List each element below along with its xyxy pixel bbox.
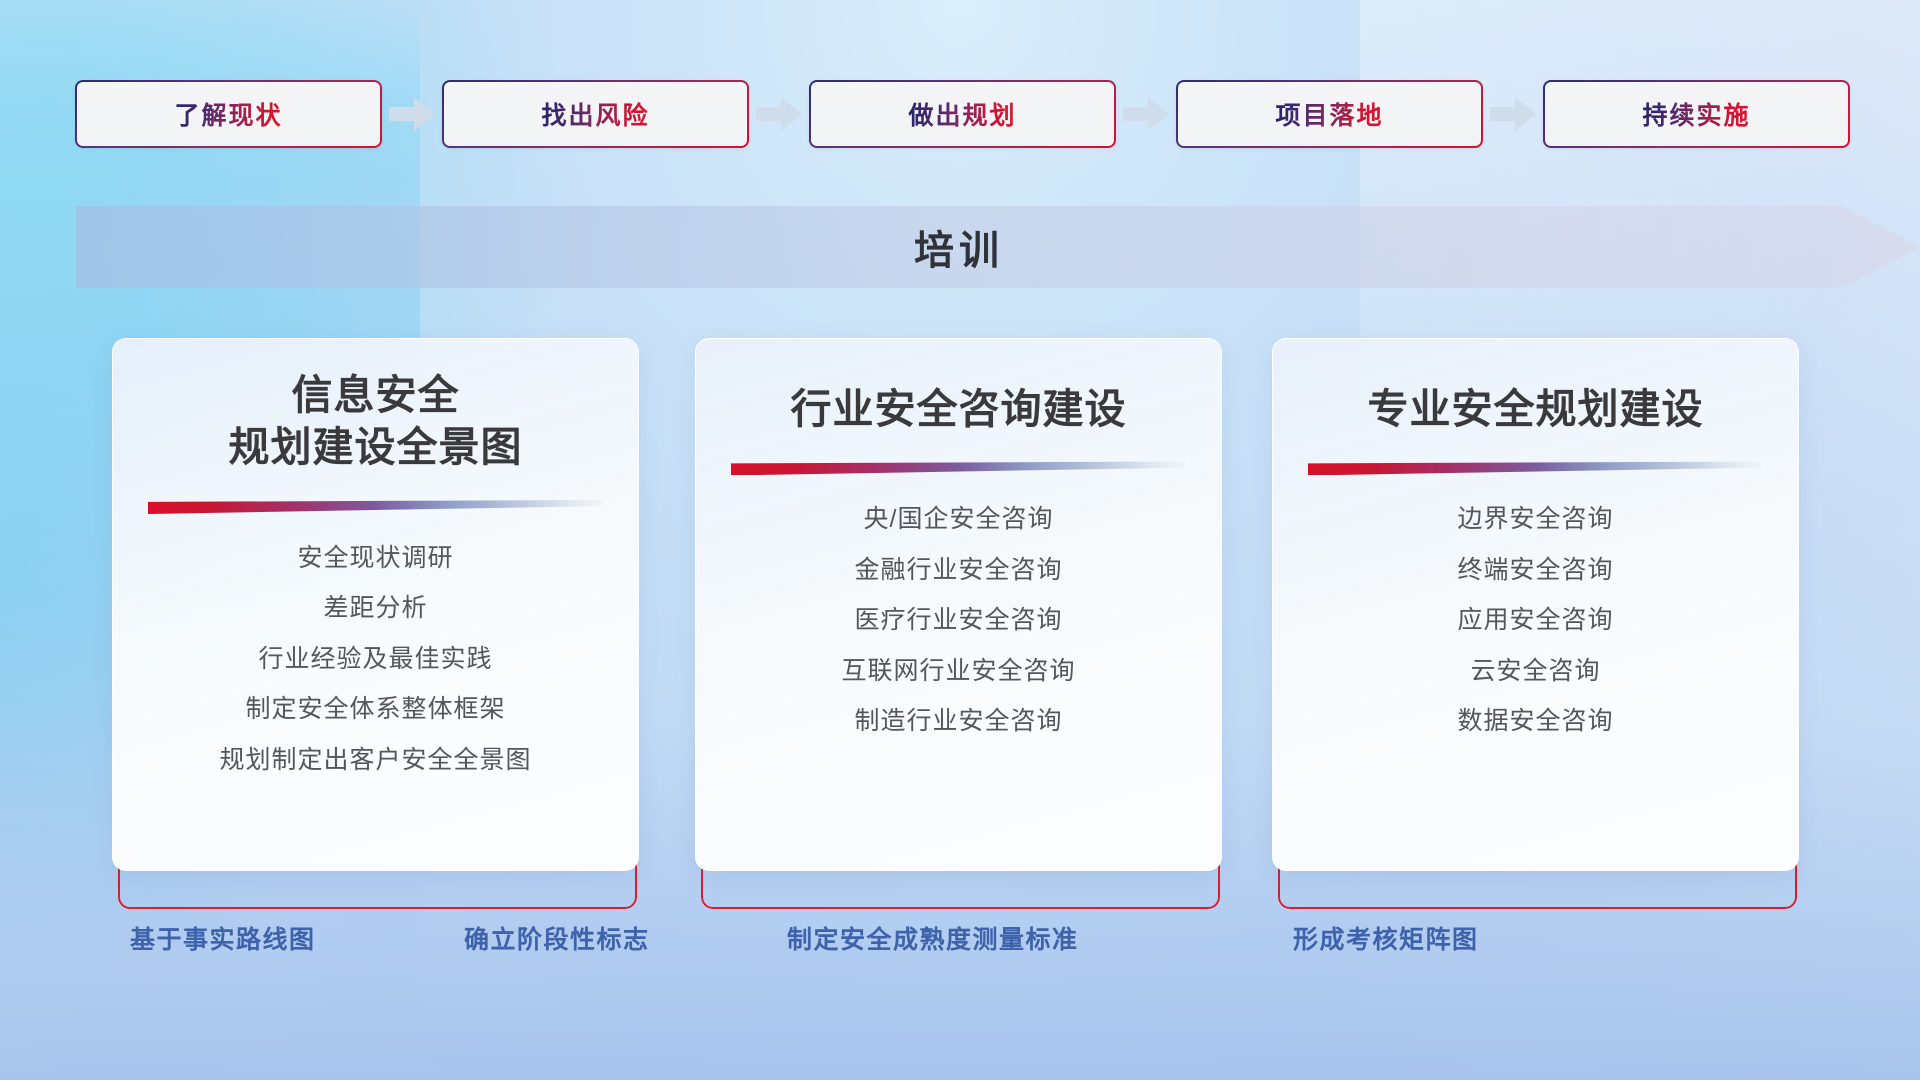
- card-title: 专业安全规划建设: [1350, 383, 1722, 435]
- list-item: 互联网行业安全咨询: [841, 653, 1075, 691]
- step-label: 持续实施: [1642, 96, 1750, 132]
- card-3[interactable]: 专业安全规划建设 边界安全咨询 终端安全咨询 应用安全咨询 云安全咨询 数据安全…: [1272, 338, 1799, 871]
- bottom-label-4: 形成考核矩阵图: [1293, 920, 1479, 956]
- card-title: 信息安全 规划建设全景图: [211, 369, 541, 474]
- card-list: 央/国企安全咨询 金融行业安全咨询 医疗行业安全咨询 互联网行业安全咨询 制造行…: [696, 501, 1221, 741]
- step-box-1[interactable]: 了解现状: [75, 80, 382, 148]
- process-steps: 了解现状 找出风险 做出规划 项目落地: [75, 78, 1847, 150]
- step-box-3[interactable]: 做出规划: [809, 80, 1116, 148]
- list-item: 边界安全咨询: [1457, 501, 1613, 539]
- arrow-right-icon: [1483, 78, 1543, 150]
- banner-title: 培训: [76, 206, 1842, 288]
- card-row: 信息安全 规划建设全景图 安全现状调研 差距分析 行业经验及最佳实践 制定安全体…: [0, 328, 1920, 868]
- card-divider: [731, 461, 1186, 475]
- card-divider-bar: [148, 500, 603, 514]
- card-divider-bar: [1308, 461, 1763, 475]
- list-item: 云安全咨询: [1470, 653, 1600, 691]
- step-box-2[interactable]: 找出风险: [442, 80, 749, 148]
- bottom-label-1: 基于事实路线图: [130, 920, 316, 956]
- card-divider: [148, 500, 603, 514]
- list-item: 金融行业安全咨询: [854, 552, 1062, 590]
- list-item: 行业经验及最佳实践: [258, 641, 492, 679]
- card-2[interactable]: 行业安全咨询建设 央/国企安全咨询 金融行业安全咨询 医疗行业安全咨询 互联网行…: [695, 338, 1222, 871]
- card-divider: [1308, 461, 1763, 475]
- arrow-right-icon: [749, 78, 809, 150]
- list-item: 数据安全咨询: [1457, 703, 1613, 741]
- card-title-line: 规划建设全景图: [229, 421, 523, 473]
- step-label: 了解现状: [174, 96, 282, 132]
- card-title-line: 专业安全规划建设: [1368, 383, 1704, 435]
- step-box-4[interactable]: 项目落地: [1176, 80, 1483, 148]
- list-item: 差距分析: [323, 590, 427, 628]
- step-box-5[interactable]: 持续实施: [1543, 80, 1850, 148]
- arrow-right-icon: [382, 78, 442, 150]
- list-item: 制定安全体系整体框架: [245, 691, 505, 729]
- list-item: 规划制定出客户安全全景图: [219, 742, 531, 780]
- list-item: 制造行业安全咨询: [854, 703, 1062, 741]
- list-item: 安全现状调研: [297, 540, 453, 578]
- card-title-line: 信息安全: [229, 369, 523, 421]
- card-list: 安全现状调研 差距分析 行业经验及最佳实践 制定安全体系整体框架 规划制定出客户…: [113, 540, 638, 780]
- training-banner: 培训: [76, 206, 1920, 288]
- arrow-right-icon: [1116, 78, 1176, 150]
- step-label: 项目落地: [1275, 96, 1383, 132]
- card-list: 边界安全咨询 终端安全咨询 应用安全咨询 云安全咨询 数据安全咨询: [1273, 501, 1798, 741]
- step-label: 做出规划: [908, 96, 1016, 132]
- step-label: 找出风险: [541, 96, 649, 132]
- card-title: 行业安全咨询建设: [773, 383, 1145, 435]
- list-item: 央/国企安全咨询: [864, 501, 1054, 539]
- card-panel: 专业安全规划建设 边界安全咨询 终端安全咨询 应用安全咨询 云安全咨询 数据安全…: [1272, 338, 1799, 871]
- bottom-label-3: 制定安全成熟度测量标准: [787, 920, 1079, 956]
- bottom-label-2: 确立阶段性标志: [464, 920, 650, 956]
- card-divider-bar: [731, 461, 1186, 475]
- list-item: 医疗行业安全咨询: [854, 602, 1062, 640]
- list-item: 终端安全咨询: [1457, 552, 1613, 590]
- slide-canvas: 了解现状 找出风险 做出规划 项目落地: [0, 0, 1920, 1080]
- card-panel: 行业安全咨询建设 央/国企安全咨询 金融行业安全咨询 医疗行业安全咨询 互联网行…: [695, 338, 1222, 871]
- card-1[interactable]: 信息安全 规划建设全景图 安全现状调研 差距分析 行业经验及最佳实践 制定安全体…: [112, 338, 639, 871]
- bottom-label-row: 基于事实路线图 确立阶段性标志 制定安全成熟度测量标准 形成考核矩阵图: [0, 920, 1920, 970]
- list-item: 应用安全咨询: [1457, 602, 1613, 640]
- card-panel: 信息安全 规划建设全景图 安全现状调研 差距分析 行业经验及最佳实践 制定安全体…: [112, 338, 639, 871]
- card-title-line: 行业安全咨询建设: [791, 383, 1127, 435]
